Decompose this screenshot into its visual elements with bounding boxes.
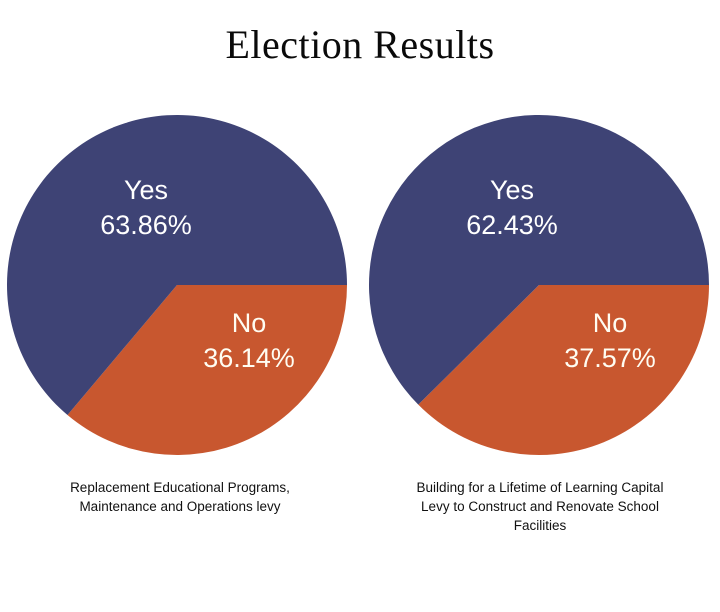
pie-value-no-right: 37.57% [564,343,656,373]
pie-label-no-left: No [232,308,267,338]
caption-line: Maintenance and Operations levy [8,497,352,516]
election-results-figure: Election Results Yes 63.86% No 36.14% Re… [0,0,720,612]
pie-label-yes-left: Yes [124,175,168,205]
caption-line: Facilities [368,516,712,535]
caption-line: Replacement Educational Programs, [8,478,352,497]
pie-value-yes-left: 63.86% [100,210,192,240]
caption-line: Levy to Construct and Renovate School [368,497,712,516]
pie-chart-right[interactable]: Yes 62.43% No 37.57% [360,110,720,465]
chart-panel-right: Yes 62.43% No 37.57% Building for a Life… [360,110,720,570]
pie-chart-left[interactable]: Yes 63.86% No 36.14% [0,110,360,465]
chart-panel-left: Yes 63.86% No 36.14% Replacement Educati… [0,110,360,570]
pie-value-yes-right: 62.43% [466,210,558,240]
pie-label-no-right: No [593,308,628,338]
chart-caption-right: Building for a Lifetime of Learning Capi… [368,478,712,535]
caption-line: Building for a Lifetime of Learning Capi… [368,478,712,497]
pie-chart-right-svg: Yes 62.43% No 37.57% [360,110,720,465]
page-title: Election Results [0,22,720,68]
chart-caption-left: Replacement Educational Programs, Mainte… [8,478,352,516]
pie-chart-left-svg: Yes 63.86% No 36.14% [0,110,360,465]
pie-value-no-left: 36.14% [203,343,295,373]
pie-label-yes-right: Yes [490,175,534,205]
